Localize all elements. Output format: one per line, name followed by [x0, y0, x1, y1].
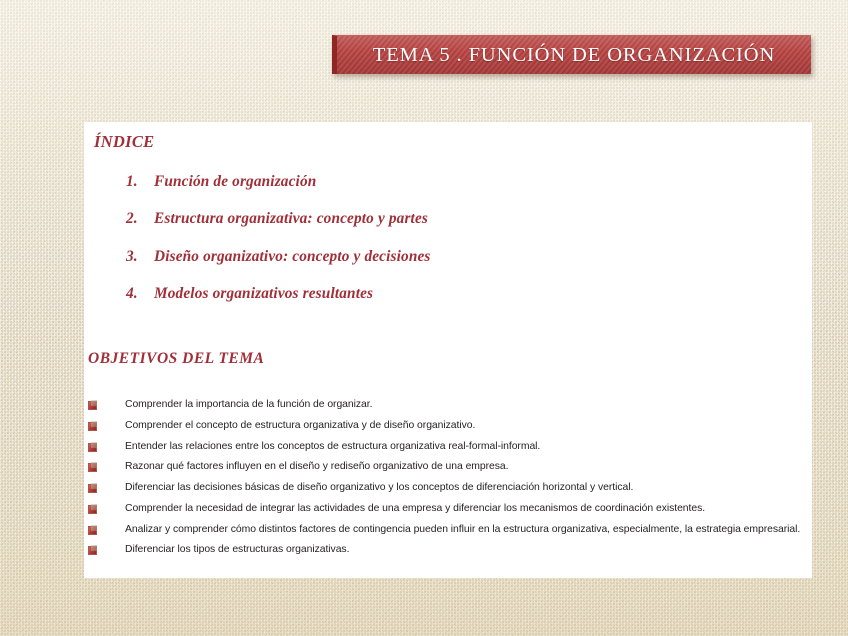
red-square-bullet-icon — [88, 443, 97, 452]
index-list-item: 3. Diseño organizativo: concepto y decis… — [126, 248, 726, 285]
slide-title-banner: TEMA 5 . FUNCIÓN DE ORGANIZACIÓN — [332, 35, 811, 74]
index-item-number: 2. — [126, 210, 154, 228]
red-square-bullet-icon — [88, 526, 97, 535]
red-square-bullet-icon — [88, 546, 97, 555]
index-list-item: 4. Modelos organizativos resultantes — [126, 285, 726, 322]
content-panel: ÍNDICE 1. Función de organización 2. Est… — [84, 122, 812, 578]
red-square-bullet-icon — [88, 401, 97, 410]
objective-text: Entender las relaciones entre los concep… — [125, 440, 804, 455]
index-item-number: 4. — [126, 285, 154, 303]
index-list-item: 2. Estructura organizativa: concepto y p… — [126, 210, 726, 247]
objective-list-item: Comprender la necesidad de integrar las … — [88, 502, 804, 517]
objective-list-item: Diferenciar los tipos de estructuras org… — [88, 543, 804, 558]
objective-list-item: Comprender el concepto de estructura org… — [88, 419, 804, 434]
index-heading: ÍNDICE — [94, 132, 155, 152]
objective-list-item: Razonar qué factores influyen en el dise… — [88, 460, 804, 475]
objective-text: Comprender el concepto de estructura org… — [125, 419, 804, 434]
index-list: 1. Función de organización 2. Estructura… — [126, 173, 726, 322]
objective-list-item: Comprender la importancia de la función … — [88, 398, 804, 413]
index-item-label: Diseño organizativo: concepto y decision… — [154, 248, 726, 266]
index-item-label: Estructura organizativa: concepto y part… — [154, 210, 726, 228]
objective-text: Comprender la necesidad de integrar las … — [125, 502, 804, 517]
objective-text: Comprender la importancia de la función … — [125, 398, 804, 413]
objectives-list: Comprender la importancia de la función … — [88, 398, 804, 564]
objectives-heading: OBJETIVOS DEL TEMA — [88, 350, 264, 368]
index-item-label: Función de organización — [154, 173, 726, 191]
objective-text: Diferenciar las decisiones básicas de di… — [125, 481, 804, 496]
objective-list-item: Diferenciar las decisiones básicas de di… — [88, 481, 804, 496]
index-list-item: 1. Función de organización — [126, 173, 726, 210]
index-item-number: 3. — [126, 248, 154, 266]
red-square-bullet-icon — [88, 484, 97, 493]
red-square-bullet-icon — [88, 463, 97, 472]
index-item-number: 1. — [126, 173, 154, 191]
objective-list-item: Analizar y comprender cómo distintos fac… — [88, 523, 804, 538]
slide-title: TEMA 5 . FUNCIÓN DE ORGANIZACIÓN — [373, 44, 775, 67]
objective-text: Diferenciar los tipos de estructuras org… — [125, 543, 804, 558]
slide-canvas: TEMA 5 . FUNCIÓN DE ORGANIZACIÓN ÍNDICE … — [0, 0, 848, 636]
objective-list-item: Entender las relaciones entre los concep… — [88, 440, 804, 455]
red-square-bullet-icon — [88, 505, 97, 514]
index-item-label: Modelos organizativos resultantes — [154, 285, 726, 303]
objective-text: Razonar qué factores influyen en el dise… — [125, 460, 804, 475]
objective-text: Analizar y comprender cómo distintos fac… — [125, 523, 804, 538]
red-square-bullet-icon — [88, 422, 97, 431]
